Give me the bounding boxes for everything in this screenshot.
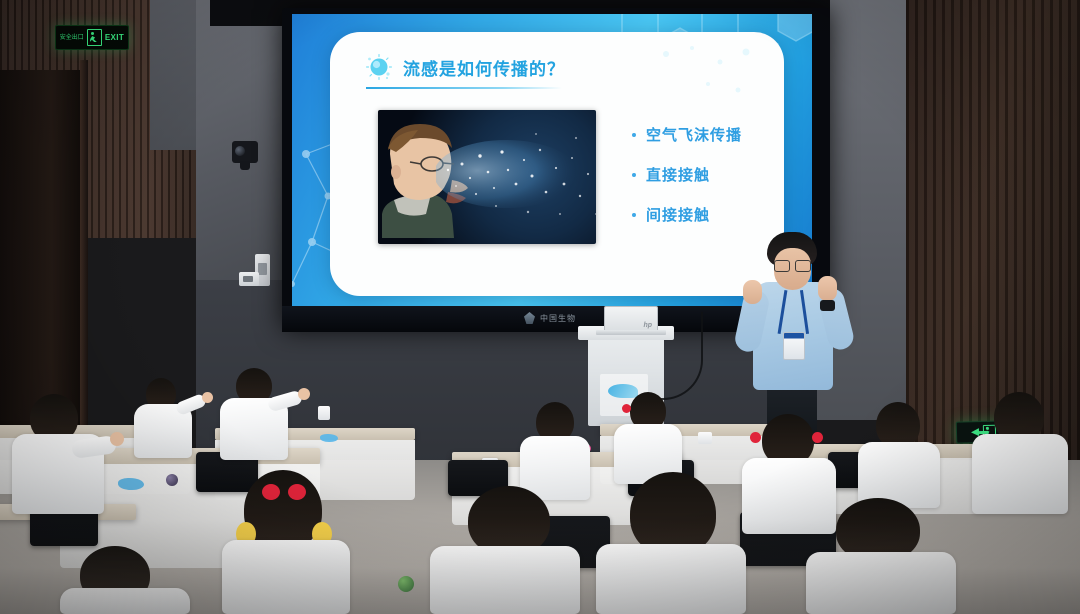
slide-title-row: 流感是如何传播的？ <box>366 54 565 80</box>
list-item <box>430 486 580 614</box>
hair-tie <box>750 432 761 443</box>
list-item <box>12 394 108 514</box>
student-lab-coat <box>222 540 350 614</box>
list-item <box>60 540 192 614</box>
sneezing-man-droplets-photo <box>378 110 596 244</box>
bullet-dot-icon <box>632 133 636 137</box>
presenter-left-hand <box>743 280 762 304</box>
list-item: 直接接触 <box>632 164 742 185</box>
list-item <box>972 392 1068 514</box>
bullet-text: 空气飞沫传播 <box>646 124 742 145</box>
paper-cup <box>318 406 330 420</box>
list-item: 空气飞沫传播 <box>632 124 742 145</box>
student-head <box>244 470 322 550</box>
slide-title-underline <box>366 87 562 89</box>
purple-ball <box>166 474 178 486</box>
sparkle-decoration-icon <box>650 42 760 112</box>
student-lab-coat <box>972 434 1068 514</box>
wall-switch-panel[interactable] <box>239 272 259 286</box>
list-item <box>132 378 194 458</box>
shield-logo-icon <box>524 312 535 324</box>
running-man-icon <box>87 29 102 46</box>
student-hand <box>202 392 213 403</box>
hair-tie <box>812 432 823 443</box>
student-lab-coat <box>806 552 956 614</box>
display-brand: 中国生物 <box>524 312 576 324</box>
droplet-spray-graphic <box>436 126 596 236</box>
student-lab-coat <box>596 544 746 614</box>
list-item <box>614 392 684 484</box>
hp-logo-icon: hp <box>643 322 652 329</box>
exit-sign-chinese-label: 安全出口 <box>60 35 84 41</box>
smartwatch-icon <box>820 300 835 311</box>
bullet-dot-icon <box>632 213 636 217</box>
list-item: 间接接触 <box>632 204 742 225</box>
exit-sign-top-left: 安全出口 EXIT <box>55 25 129 50</box>
list-item <box>596 472 746 614</box>
presenter <box>733 232 851 444</box>
list-item <box>858 402 942 508</box>
student-hand <box>298 388 310 400</box>
screenshot-root: 安全出口 EXIT <box>0 0 1080 614</box>
display-brand-label: 中国生物 <box>540 313 576 324</box>
exit-sign-english-label: EXIT <box>105 33 124 42</box>
paper-cup <box>698 432 712 444</box>
student-lab-coat <box>60 588 190 614</box>
slide-bullet-list: 空气飞沫传播 直接接触 间接接触 <box>632 124 742 244</box>
presenter-right-hand <box>818 276 837 301</box>
id-badge <box>783 332 805 360</box>
slide-content-card: 流感是如何传播的？ <box>330 32 784 296</box>
bullet-text: 直接接触 <box>646 164 710 185</box>
hair-ribbon <box>262 484 280 500</box>
student-lab-coat <box>430 546 580 614</box>
list-item <box>220 368 290 460</box>
hair-ribbon <box>288 484 306 500</box>
list-item <box>806 498 956 614</box>
bullet-dot-icon <box>632 173 636 177</box>
student-hand <box>110 432 124 446</box>
bullet-text: 间接接触 <box>646 204 710 225</box>
hair-tie <box>622 404 631 413</box>
virus-circle-icon <box>366 54 392 80</box>
security-camera-icon <box>232 141 258 163</box>
list-item <box>222 470 352 614</box>
slide-title: 流感是如何传播的？ <box>403 55 565 80</box>
green-ball <box>398 576 414 592</box>
glasses-icon <box>774 260 811 271</box>
blue-glove <box>320 434 338 442</box>
blue-glove <box>118 478 144 490</box>
list-item <box>520 402 592 498</box>
